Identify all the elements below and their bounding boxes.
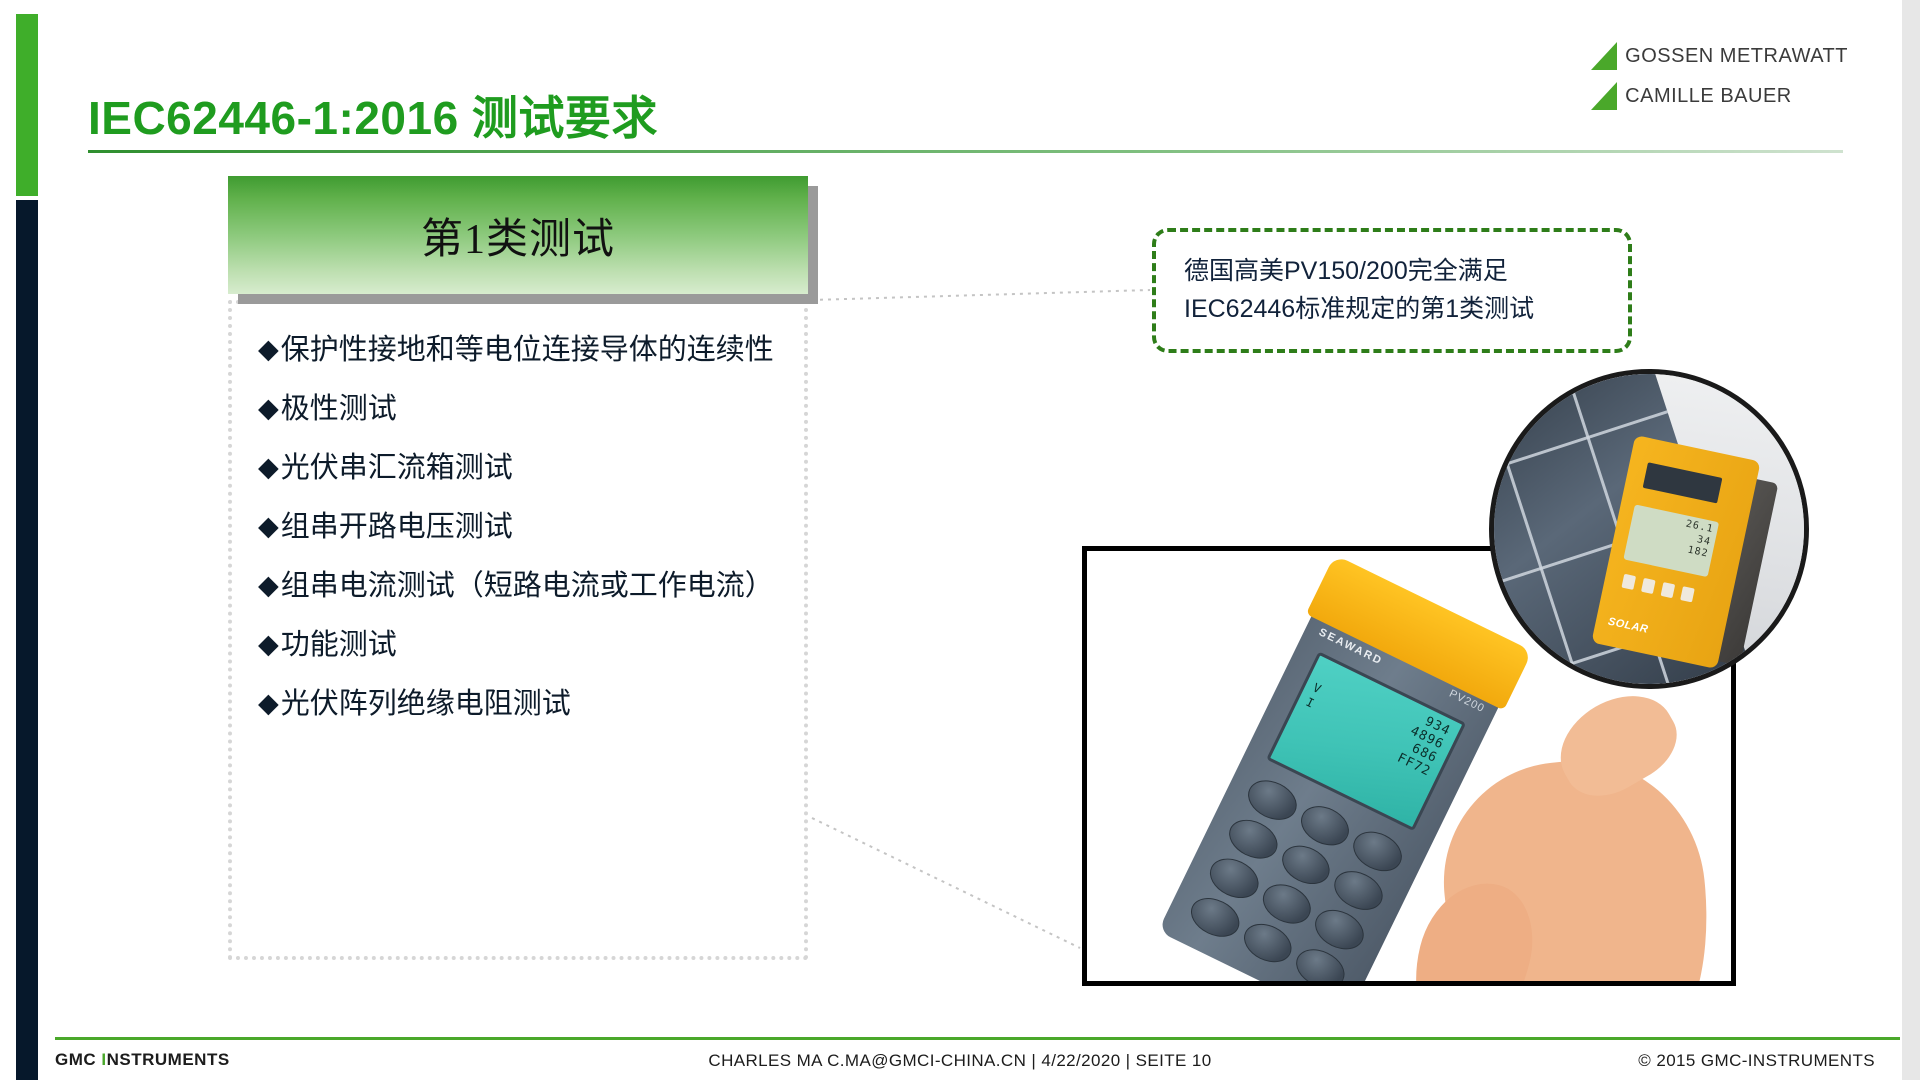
list-item: ◆ 保护性接地和等电位连接导体的连续性	[258, 328, 798, 373]
diamond-bullet-icon: ◆	[258, 682, 279, 726]
list-item: ◆ 组串电流测试（短路电流或工作电流）	[258, 564, 798, 609]
left-accent-bar-green	[16, 14, 38, 196]
diamond-bullet-icon: ◆	[258, 623, 279, 667]
title-underline	[88, 150, 1843, 153]
list-item: ◆ 光伏阵列绝缘电阻测试	[258, 682, 798, 727]
meter-key	[1256, 877, 1317, 931]
footer-meta: CHARLES MA C.MA@GMCI-CHINA.CN | 4/22/202…	[0, 1051, 1920, 1071]
list-item-label: 极性测试	[281, 387, 798, 432]
category-banner: 第1类测试	[228, 176, 808, 294]
list-item: ◆ 组串开路电压测试	[258, 505, 798, 550]
green-triangle-icon	[1591, 42, 1617, 70]
list-item: ◆ 光伏串汇流箱测试	[258, 446, 798, 491]
list-item-label: 组串电流测试（短路电流或工作电流）	[281, 564, 798, 609]
left-accent-bar-dark	[16, 200, 38, 1080]
brand-logo-block: GOSSEN METRAWATT CAMILLE BAUER	[1591, 36, 1848, 116]
list-item-label: 保护性接地和等电位连接导体的连续性	[281, 328, 798, 373]
list-item-label: 光伏阵列绝缘电阻测试	[281, 682, 798, 727]
diamond-bullet-icon: ◆	[258, 387, 279, 431]
list-item: ◆ 极性测试	[258, 387, 798, 432]
green-triangle-icon	[1591, 82, 1617, 110]
test-requirement-list: ◆ 保护性接地和等电位连接导体的连续性 ◆ 极性测试 ◆ 光伏串汇流箱测试 ◆ …	[258, 328, 798, 741]
brand-name-gossen: GOSSEN METRAWATT	[1625, 45, 1848, 68]
list-item: ◆ 功能测试	[258, 623, 798, 668]
list-item-label: 组串开路电压测试	[281, 505, 798, 550]
brand-row-camille: CAMILLE BAUER	[1591, 76, 1848, 116]
category-banner-label: 第1类测试	[421, 205, 615, 266]
footer-copyright: © 2015 GMC-INSTRUMENTS	[1638, 1051, 1875, 1071]
footer-rule	[55, 1037, 1900, 1040]
list-item-label: 光伏串汇流箱测试	[281, 446, 798, 491]
circular-inset-photo: 26.1 34 182 SOLAR	[1489, 369, 1809, 689]
brand-row-gossen: GOSSEN METRAWATT	[1591, 36, 1848, 76]
diamond-bullet-icon: ◆	[258, 446, 279, 490]
list-item-label: 功能测试	[281, 623, 798, 668]
page-title: IEC62446-1:2016 测试要求	[88, 82, 658, 148]
diamond-bullet-icon: ◆	[258, 328, 279, 372]
diamond-bullet-icon: ◆	[258, 505, 279, 549]
brand-name-camille: CAMILLE BAUER	[1625, 85, 1792, 108]
scrollbar-track[interactable]	[1902, 0, 1920, 1080]
callout-text: 德国高美PV150/200完全满足 IEC62446标准规定的第1类测试	[1156, 253, 1534, 328]
diamond-bullet-icon: ◆	[258, 564, 279, 608]
callout-box: 德国高美PV150/200完全满足 IEC62446标准规定的第1类测试	[1152, 228, 1632, 353]
